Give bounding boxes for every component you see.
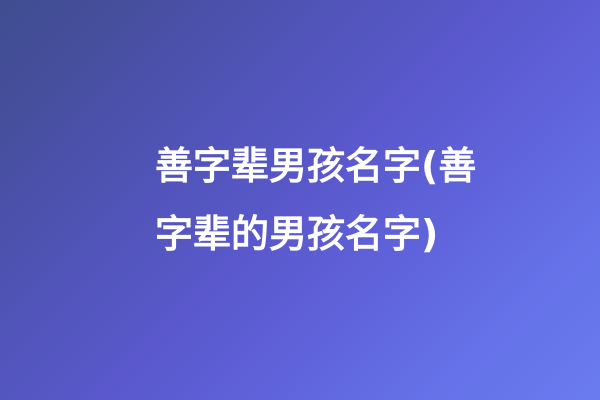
title-banner-card: 善字辈男孩名字(善 字辈的男孩名字) bbox=[0, 0, 600, 400]
page-title: 善字辈男孩名字(善 字辈的男孩名字) bbox=[0, 132, 600, 268]
page-title-line-1: 善字辈男孩名字(善 bbox=[155, 132, 560, 200]
page-title-line-2: 字辈的男孩名字) bbox=[155, 200, 560, 268]
